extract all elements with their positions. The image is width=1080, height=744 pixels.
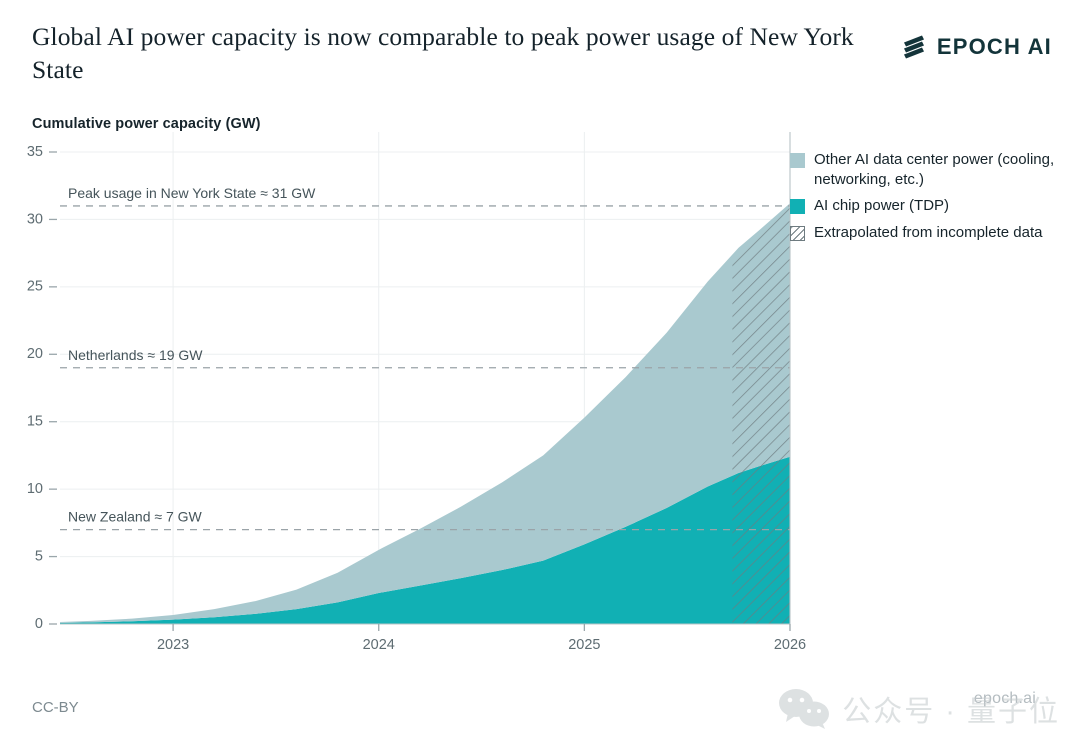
x-tick-label: 2023: [157, 637, 189, 653]
legend-label-chip-power: AI chip power (TDP): [814, 196, 949, 216]
y-tick-label: 0: [35, 616, 43, 632]
site-label: epoch.ai: [974, 690, 1036, 708]
ref-line-netherlands-label: Netherlands ≈ 19 GW: [68, 347, 203, 363]
legend-swatch-extrapolated: [790, 226, 805, 241]
legend-swatch-chip-power: [790, 199, 805, 214]
y-axis-title: Cumulative power capacity (GW): [32, 116, 261, 132]
y-tick-label: 10: [27, 481, 43, 497]
y-tick-label: 15: [27, 414, 43, 430]
legend-label-extrapolated: Extrapolated from incomplete data: [814, 223, 1042, 243]
y-tick-label: 35: [27, 144, 43, 160]
y-tick-label: 5: [35, 548, 43, 564]
y-tick-label: 20: [27, 346, 43, 362]
legend-item-other-power: Other AI data center power (cooling, net…: [790, 150, 1060, 189]
legend-item-chip-power: AI chip power (TDP): [790, 196, 1060, 216]
header: Global AI power capacity is now comparab…: [32, 20, 1052, 90]
license-label: CC-BY: [32, 699, 79, 716]
ref-line-new-york-label: Peak usage in New York State ≈ 31 GW: [68, 185, 316, 201]
ref-line-new-zealand-label: New Zealand ≈ 7 GW: [68, 509, 203, 525]
chart-legend: Other AI data center power (cooling, net…: [790, 150, 1060, 249]
epoch-slashes-icon: [900, 34, 928, 60]
brand-name: EPOCH AI: [937, 34, 1052, 60]
y-tick-label: 30: [27, 211, 43, 227]
y-tick-label: 25: [27, 279, 43, 295]
legend-swatch-other-power: [790, 153, 805, 168]
legend-item-extrapolated: Extrapolated from incomplete data: [790, 223, 1060, 243]
legend-label-other-power: Other AI data center power (cooling, net…: [814, 150, 1060, 189]
chart-page: Global AI power capacity is now comparab…: [0, 0, 1080, 744]
x-tick-label: 2026: [774, 637, 806, 653]
x-tick-label: 2024: [363, 637, 395, 653]
x-tick-label: 2025: [568, 637, 600, 653]
page-title: Global AI power capacity is now comparab…: [32, 20, 877, 86]
wechat-icon: [778, 688, 830, 730]
brand-logo: EPOCH AI: [900, 34, 1052, 60]
